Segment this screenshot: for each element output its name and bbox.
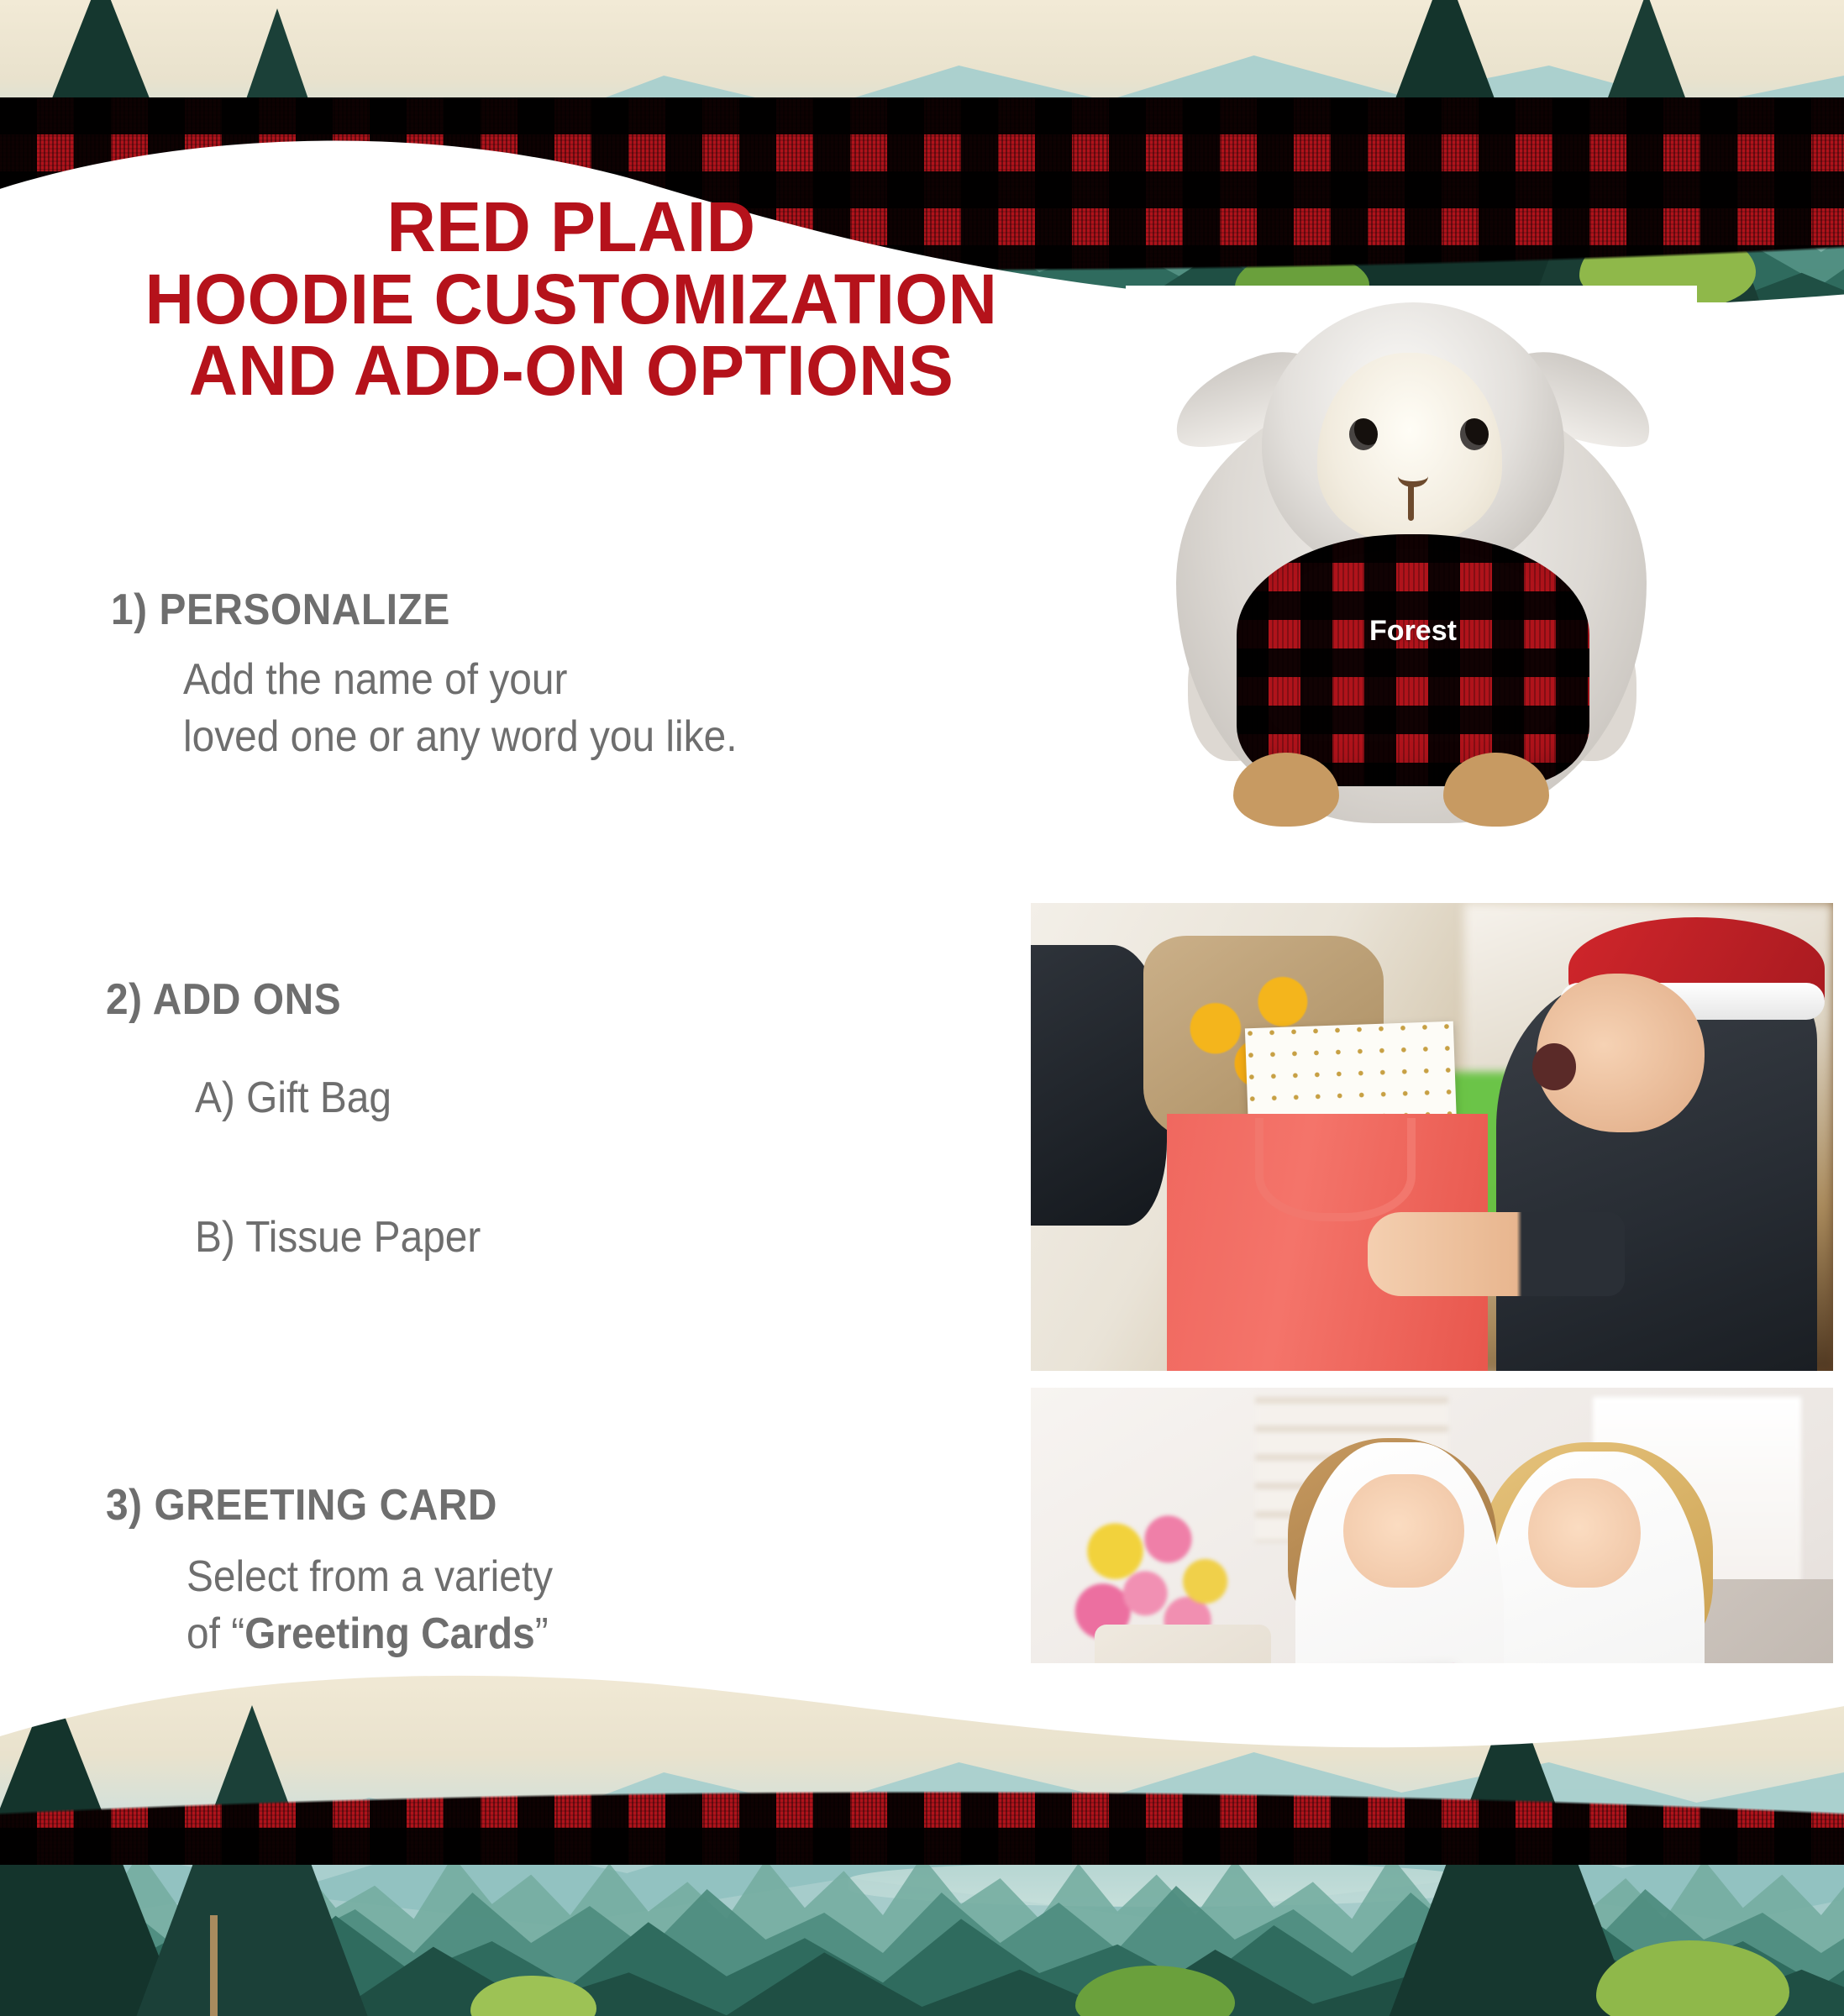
- step-3-heading: 3) GREETING CARD: [106, 1480, 546, 1530]
- add-on-option-gift-bag[interactable]: A) Gift Bag: [195, 1070, 481, 1127]
- lamb-eye-left: [1349, 418, 1378, 450]
- title-line-1: RED PLAID: [23, 192, 1120, 264]
- embroidered-name-forest: Forest: [1237, 615, 1589, 648]
- step-1-heading: 1) PERSONALIZE: [111, 585, 732, 635]
- quote-close: ”: [535, 1609, 549, 1658]
- step-3-body-line-1: Select from a variety: [187, 1549, 553, 1606]
- step-1-body: Add the name of your loved one or any wo…: [183, 652, 738, 765]
- boy-arm-reaching: [1368, 1212, 1625, 1296]
- add-on-option-tissue-paper[interactable]: B) Tissue Paper: [195, 1210, 481, 1267]
- plaid-hoodie: [1237, 534, 1589, 786]
- title-line-2: HOODIE CUSTOMIZATION: [23, 264, 1120, 336]
- lamb-mouth: [1408, 484, 1414, 521]
- step-2-heading: 2) ADD ONS: [106, 974, 474, 1025]
- gift-bag-handle: [1255, 1118, 1416, 1221]
- page-title: RED PLAID HOODIE CUSTOMIZATION AND ADD-O…: [23, 192, 1120, 407]
- plush-lamb-image: Forest: [1126, 286, 1697, 857]
- banner-bottom: [0, 1663, 1844, 2016]
- gift-bag-photo: [1031, 903, 1833, 1371]
- step-1-body-line-2: loved one or any word you like.: [183, 709, 738, 766]
- tree-trunk-left-bottom: [210, 1915, 218, 2016]
- greeting-cards-emphasis: Greeting Cards: [244, 1609, 535, 1658]
- quote-open: of “: [187, 1609, 244, 1658]
- step-personalize: 1) PERSONALIZE Add the name of your love…: [111, 585, 785, 765]
- step-add-ons: 2) ADD ONS A) Gift Bag B) Tissue Paper: [106, 974, 506, 1266]
- step-3-body-line-2: of “Greeting Cards”: [187, 1606, 553, 1663]
- title-line-3: AND ADD-ON OPTIONS: [23, 335, 1120, 407]
- lamb-eye-right: [1460, 418, 1489, 450]
- step-greeting-card: 3) GREETING CARD Select from a variety o…: [106, 1480, 585, 1662]
- step-3-body: Select from a variety of “Greeting Cards…: [187, 1549, 553, 1662]
- mother-face: [1528, 1478, 1641, 1588]
- boy-open-mouth: [1532, 1043, 1577, 1090]
- step-1-body-line-1: Add the name of your: [183, 652, 738, 709]
- daughter-face: [1343, 1474, 1463, 1588]
